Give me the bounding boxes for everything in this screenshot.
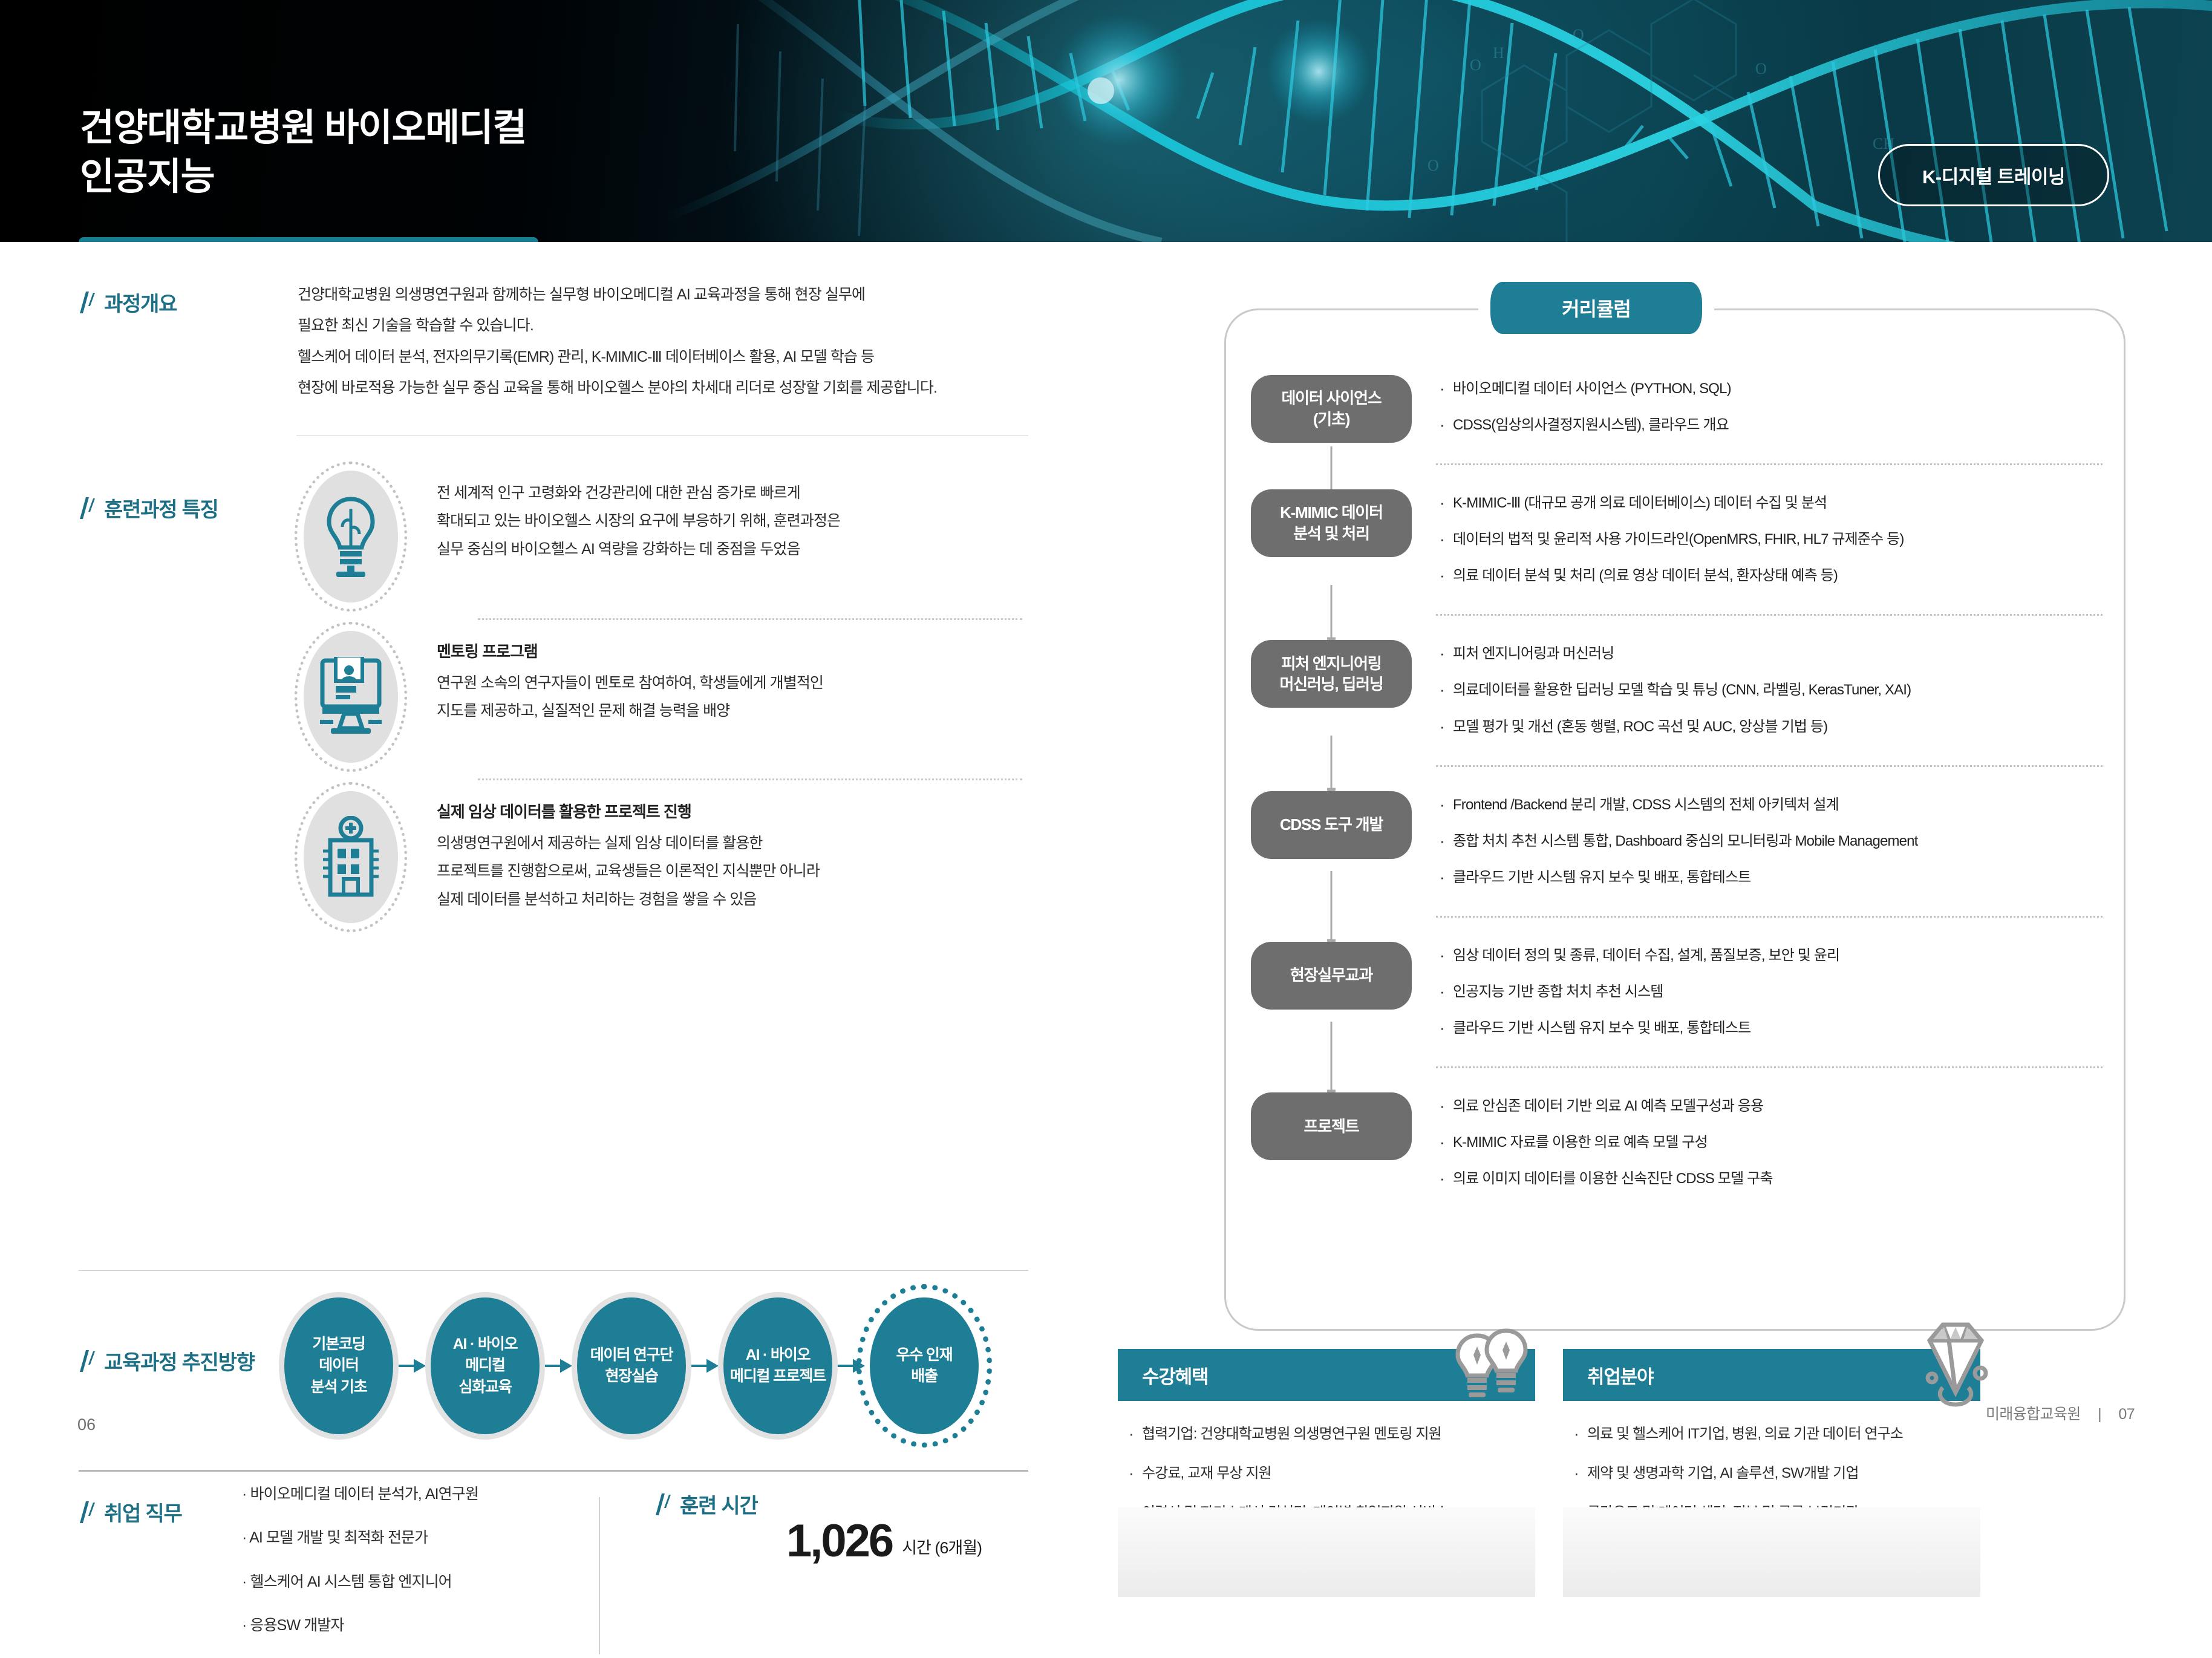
curriculum-items: 피처 엔지니어링과 머신러닝 의료데이터를 활용한 딥러닝 모델 학습 및 튜닝… xyxy=(1419,640,2107,752)
list-item: · 헬스케어 AI 시스템 통합 엔지니어 xyxy=(242,1571,478,1593)
page-header: OH OO CHO 건양대학교병원 바이오메디컬 인공지능 K-디지털 트레이닝 xyxy=(0,0,2212,242)
page-title-text: 건양대학교병원 바이오메디컬 인공지능 xyxy=(80,104,526,201)
svg-text:O: O xyxy=(1427,157,1439,174)
stage-line: 피처 엔지니어링 xyxy=(1281,653,1381,674)
curriculum-items: Frontend /Backend 분리 개발, CDSS 시스템의 전체 아키… xyxy=(1419,791,2107,904)
curriculum-panel: 커리큘럼 데이터 사이언스 (기초) 바이오메디컬 데이터 사이언 xyxy=(1224,308,2126,1331)
two-lightbulbs-icon xyxy=(1450,1317,1541,1413)
curriculum-stage-col: 프로젝트 xyxy=(1244,1092,1419,1160)
feature-icon-wrap xyxy=(290,471,411,602)
features-heading-label: 훈련과정 특징 xyxy=(104,493,218,523)
fields-heading-label: 취업분야 xyxy=(1587,1362,1653,1389)
feature-line: 프로젝트를 진행함으로써, 교육생들은 이론적인 지식뿐만 아니라 xyxy=(437,857,820,885)
curriculum-stage: 데이터 사이언스 (기초) xyxy=(1251,375,1412,443)
flow-node-line: 분석 기초 xyxy=(311,1377,367,1399)
list-item: · 응용SW 개발자 xyxy=(242,1614,478,1636)
overview-line: 필요한 최신 기술을 학습할 수 있습니다. xyxy=(298,310,1011,341)
fields-footer-strip xyxy=(1563,1507,1980,1597)
features-heading: 훈련과정 특징 xyxy=(77,493,218,523)
flow-node-line: 데이터 xyxy=(319,1355,358,1377)
feature-item: 전 세계적 인구 고령화와 건강관리에 대한 관심 증가로 빠르게 확대되고 있… xyxy=(290,460,1034,618)
flow-arrow-icon xyxy=(686,1358,723,1374)
flow-node: 기본코딩 데이터 분석 기초 xyxy=(284,1297,393,1434)
stage-line: (기초) xyxy=(1313,409,1349,430)
list-item: 협력기업: 건양대학교병원 의생명연구원 멘토링 지원 xyxy=(1129,1424,1535,1445)
left-page: 과정개요 건양대학교병원 의생명연구원과 함께하는 실무형 바이오메디컬 AI … xyxy=(0,242,1106,1466)
list-item: 임상 데이터 정의 및 종류, 데이터 수집, 설계, 품질보증, 보안 및 윤… xyxy=(1440,945,2107,966)
flow-node-line: 심화교육 xyxy=(458,1377,511,1399)
list-item: 종합 처치 추천 시스템 통합, Dashboard 중심의 모니터링과 Mob… xyxy=(1440,831,2107,852)
flow-node-line: 우수 인재 xyxy=(896,1345,953,1366)
page-body: 과정개요 건양대학교병원 의생명연구원과 함께하는 실무형 바이오메디컬 AI … xyxy=(0,242,2212,1466)
curriculum-stage-col: K-MIMIC 데이터 분석 및 처리 xyxy=(1244,489,1419,557)
curriculum-stage: K-MIMIC 데이터 분석 및 처리 xyxy=(1251,489,1412,557)
vertical-divider xyxy=(599,1497,600,1654)
divider xyxy=(296,436,1028,436)
curriculum-stage-col: 피처 엔지니어링 머신러닝, 딥러닝 xyxy=(1244,640,1419,708)
curriculum-badge: 커리큘럼 xyxy=(1490,282,1702,334)
stage-line: CDSS 도구 개발 xyxy=(1280,814,1383,835)
page-title: 건양대학교병원 바이오메디컬 인공지능 xyxy=(80,104,526,201)
flow-node-line: AI · 바이오 xyxy=(746,1345,811,1366)
diamond-icon xyxy=(1908,1315,1998,1417)
svg-text:O: O xyxy=(1573,26,1584,44)
list-item: 클라우드 기반 시스템 유지 보수 및 배포, 통합테스트 xyxy=(1440,867,2107,888)
curriculum-stage: 현장실무교과 xyxy=(1251,942,1412,1010)
list-item: 바이오메디컬 데이터 사이언스 (PYTHON, SQL) xyxy=(1440,379,2107,399)
flow-node: AI · 바이오 메디컬 심화교육 xyxy=(431,1297,540,1434)
feature-line: 실제 데이터를 분석하고 처리하는 경험을 쌓을 수 있음 xyxy=(437,886,820,913)
hours-number: 1,026 xyxy=(786,1518,892,1564)
flow-node: 데이터 연구단 현장실습 xyxy=(577,1297,686,1434)
curriculum-row: 현장실무교과 임상 데이터 정의 및 종류, 데이터 수집, 설계, 품질보증,… xyxy=(1244,918,2107,1066)
curriculum-items: K-MIMIC-Ⅲ (대규모 공개 의료 데이터베이스) 데이터 수집 및 분석… xyxy=(1419,489,2107,602)
stage-line: 데이터 사이언스 xyxy=(1281,388,1381,409)
curriculum-rows: 데이터 사이언스 (기초) 바이오메디컬 데이터 사이언스 (PYTHON, S… xyxy=(1244,375,2107,1217)
slash-icon xyxy=(77,1349,96,1373)
divider-thick xyxy=(79,1470,1028,1472)
benefits-list: 협력기업: 건양대학교병원 의생명연구원 멘토링 지원 수강료, 교재 무상 지… xyxy=(1118,1401,1535,1523)
overview-line: 헬스케어 데이터 분석, 전자의무기록(EMR) 관리, K-MIMIC-Ⅲ 데… xyxy=(298,342,1011,373)
flow-heading: 교육과정 추진방향 xyxy=(77,1346,255,1376)
slash-icon xyxy=(77,290,96,315)
list-item: 클라우드 기반 시스템 유지 보수 및 배포, 통합테스트 xyxy=(1440,1018,2107,1039)
curriculum-items: 임상 데이터 정의 및 종류, 데이터 수집, 설계, 품질보증, 보안 및 윤… xyxy=(1419,942,2107,1054)
flow-node-line: 메디컬 xyxy=(465,1355,504,1377)
curriculum-stage: 피처 엔지니어링 머신러닝, 딥러닝 xyxy=(1251,640,1412,708)
list-item: CDSS(임상의사결정지원시스템), 클라우드 개요 xyxy=(1440,415,2107,436)
feature-text: 멘토링 프로그램 연구원 소속의 연구자들이 멘토로 참여하여, 학생들에게 개… xyxy=(437,631,823,725)
stage-line: 머신러닝, 딥러닝 xyxy=(1279,674,1383,695)
feature-line: 지도를 제공하고, 실질적인 문제 해결 능력을 배양 xyxy=(437,697,823,725)
stage-line: 분석 및 처리 xyxy=(1293,523,1369,544)
list-item: 인공지능 기반 종합 처치 추천 시스템 xyxy=(1440,982,2107,1002)
curriculum-stage: CDSS 도구 개발 xyxy=(1251,791,1412,859)
flow-node-line: 데이터 연구단 xyxy=(590,1345,673,1366)
feature-item: 실제 임상 데이터를 활용한 프로젝트 진행 의생명연구원에서 제공하는 실제 … xyxy=(290,780,1034,939)
feature-text: 실제 임상 데이터를 활용한 프로젝트 진행 의생명연구원에서 제공하는 실제 … xyxy=(437,791,820,913)
flow-node-line: 메디컬 프로젝트 xyxy=(730,1366,826,1388)
feature-title: 멘토링 프로그램 xyxy=(437,639,823,662)
flow-node-final: 우수 인재 배출 xyxy=(870,1297,979,1434)
list-item: 의료데이터를 활용한 딥러닝 모델 학습 및 튜닝 (CNN, 라벨링, Ker… xyxy=(1440,680,2107,700)
feature-line: 전 세계적 인구 고령화와 건강관리에 대한 관심 증가로 빠르게 xyxy=(437,479,840,507)
list-item: 의료 및 헬스케어 IT기업, 병원, 의료 기관 데이터 연구소 xyxy=(1574,1424,1980,1445)
curriculum-items: 바이오메디컬 데이터 사이언스 (PYTHON, SQL) CDSS(임상의사결… xyxy=(1419,375,2107,451)
benefits-footer-strip xyxy=(1118,1507,1535,1597)
feature-icon-wrap xyxy=(290,791,411,923)
list-item: Frontend /Backend 분리 개발, CDSS 시스템의 전체 아키… xyxy=(1440,795,2107,815)
curriculum-row: 데이터 사이언스 (기초) 바이오메디컬 데이터 사이언스 (PYTHON, S… xyxy=(1244,375,2107,463)
curriculum-row: 프로젝트 의료 안심존 데이터 기반 의료 AI 예측 모델구성과 응용 K-M… xyxy=(1244,1068,2107,1217)
svg-text:O: O xyxy=(1470,56,1481,74)
list-item: · 바이오메디컬 데이터 분석가, AI연구원 xyxy=(242,1483,478,1505)
list-item: 의료 안심존 데이터 기반 의료 AI 예측 모델구성과 응용 xyxy=(1440,1096,2107,1117)
feature-item: 멘토링 프로그램 연구원 소속의 연구자들이 멘토로 참여하여, 학생들에게 개… xyxy=(290,620,1034,778)
list-item: 피처 엔지니어링과 머신러닝 xyxy=(1440,644,2107,664)
stage-line: K-MIMIC 데이터 xyxy=(1280,502,1383,523)
feature-title: 실제 임상 데이터를 활용한 프로젝트 진행 xyxy=(437,800,820,822)
flow-heading-label: 교육과정 추진방향 xyxy=(104,1346,255,1376)
footer-org: 미래융합교육원 xyxy=(1986,1406,2081,1423)
flow-node: AI · 바이오 메디컬 프로젝트 xyxy=(723,1297,832,1434)
flow-node-line: 기본코딩 xyxy=(312,1334,365,1356)
overview-heading-label: 과정개요 xyxy=(104,287,177,317)
list-item: 의료 데이터 분석 및 처리 (의료 영상 데이터 분석, 환자상태 예측 등) xyxy=(1440,566,2107,586)
curriculum-row: K-MIMIC 데이터 분석 및 처리 K-MIMIC-Ⅲ (대규모 공개 의료… xyxy=(1244,465,2107,614)
list-item: K-MIMIC-Ⅲ (대규모 공개 의료 데이터베이스) 데이터 수집 및 분석 xyxy=(1440,493,2107,514)
list-item: K-MIMIC 자료를 이용한 의료 예측 모델 구성 xyxy=(1440,1132,2107,1153)
page-number-right: 07 xyxy=(2118,1406,2135,1423)
kdt-badge: K-디지털 트레이닝 xyxy=(1878,144,2109,206)
benefits-heading-label: 수강혜택 xyxy=(1142,1362,1208,1389)
benefits-header: 수강혜택 xyxy=(1118,1349,1535,1401)
right-page: 커리큘럼 데이터 사이언스 (기초) 바이오메디컬 데이터 사이언 xyxy=(1106,242,2212,1466)
stage-line: 현장실무교과 xyxy=(1290,965,1372,986)
slash-icon xyxy=(77,1500,96,1524)
list-item: 제약 및 생명과학 기업, AI 솔루션, SW개발 기업 xyxy=(1574,1463,1980,1484)
jobs-heading: 취업 직무 xyxy=(77,1497,182,1527)
overview-text: 건양대학교병원 의생명연구원과 함께하는 실무형 바이오메디컬 AI 교육과정을… xyxy=(298,279,1011,403)
divider xyxy=(79,1270,1028,1271)
feature-line: 실무 중심의 바이오헬스 AI 역량을 강화하는 데 중점을 두었음 xyxy=(437,535,840,563)
hospital-icon xyxy=(304,791,398,923)
svg-text:H: H xyxy=(1493,44,1504,62)
features-list: 전 세계적 인구 고령화와 건강관리에 대한 관심 증가로 빠르게 확대되고 있… xyxy=(290,460,1034,939)
page-footer-right: 미래융합교육원 | 07 xyxy=(1986,1402,2135,1424)
feature-text: 전 세계적 인구 고령화와 건강관리에 대한 관심 증가로 빠르게 확대되고 있… xyxy=(437,471,840,563)
overview-line: 현장에 바로적용 가능한 실무 중심 교육을 통해 바이오헬스 분야의 차세대 … xyxy=(298,373,1011,403)
slash-icon xyxy=(653,1492,671,1516)
hours-heading: 훈련 시간 xyxy=(653,1489,758,1519)
flow-diagram: 기본코딩 데이터 분석 기초 AI · 바이오 메디컬 심화교육 데이터 연구단… xyxy=(284,1297,979,1434)
overview-heading: 과정개요 xyxy=(77,287,177,317)
slash-icon xyxy=(77,496,96,520)
flow-node-line: 현장실습 xyxy=(605,1366,657,1388)
jobs-heading-label: 취업 직무 xyxy=(104,1497,182,1527)
list-item: 데이터의 법적 및 윤리적 사용 가이드라인(OpenMRS, FHIR, HL… xyxy=(1440,529,2107,550)
fields-list: 의료 및 헬스케어 IT기업, 병원, 의료 기관 데이터 연구소 제약 및 생… xyxy=(1563,1401,1980,1523)
curriculum-row: CDSS 도구 개발 Frontend /Backend 분리 개발, CDSS… xyxy=(1244,767,2107,916)
monitor-mentoring-icon xyxy=(304,631,398,763)
curriculum-stage-col: CDSS 도구 개발 xyxy=(1244,791,1419,859)
title-accent-bar xyxy=(79,237,538,242)
hours-unit: 시간 (6개월) xyxy=(902,1535,982,1564)
list-item: 의료 이미지 데이터를 이용한 신속진단 CDSS 모델 구축 xyxy=(1440,1169,2107,1189)
curriculum-row: 피처 엔지니어링 머신러닝, 딥러닝 피처 엔지니어링과 머신러닝 의료데이터를… xyxy=(1244,616,2107,765)
feature-line: 연구원 소속의 연구자들이 멘토로 참여하여, 학생들에게 개별적인 xyxy=(437,669,823,697)
overview-line: 건양대학교병원 의생명연구원과 함께하는 실무형 바이오메디컬 AI 교육과정을… xyxy=(298,279,1011,310)
list-item: 수강료, 교재 무상 지원 xyxy=(1129,1463,1535,1484)
footer-separator: | xyxy=(2084,1406,2115,1423)
hours-heading-label: 훈련 시간 xyxy=(680,1489,758,1519)
benefits-box: 수강혜택 xyxy=(1118,1349,1535,1541)
fields-header: 취업분야 xyxy=(1563,1349,1980,1401)
curriculum-stage: 프로젝트 xyxy=(1251,1092,1412,1160)
flow-node-line: 배출 xyxy=(911,1366,938,1388)
flow-arrow-icon xyxy=(540,1358,577,1374)
list-item: 모델 평가 및 개선 (혼동 행렬, ROC 곡선 및 AUC, 앙상블 기법 … xyxy=(1440,717,2107,737)
fields-box: 취업분야 xyxy=(1563,1349,1980,1541)
stage-line: 프로젝트 xyxy=(1304,1116,1359,1137)
feature-line: 의생명연구원에서 제공하는 실제 임상 데이터를 활용한 xyxy=(437,829,820,857)
feature-line: 확대되고 있는 바이오헬스 시장의 요구에 부응하기 위해, 훈련과정은 xyxy=(437,507,840,535)
flow-arrow-icon xyxy=(393,1358,431,1374)
page-number-left: 06 xyxy=(77,1415,96,1434)
svg-text:O: O xyxy=(1755,60,1767,77)
list-item: · AI 모델 개발 및 최적화 전문가 xyxy=(242,1527,478,1549)
feature-icon-wrap xyxy=(290,631,411,763)
jobs-list: · 바이오메디컬 데이터 분석가, AI연구원 · AI 모델 개발 및 최적화… xyxy=(242,1483,478,1658)
curriculum-items: 의료 안심존 데이터 기반 의료 AI 예측 모델구성과 응용 K-MIMIC … xyxy=(1419,1092,2107,1205)
curriculum-stage-col: 데이터 사이언스 (기초) xyxy=(1244,375,1419,443)
flow-node-line: AI · 바이오 xyxy=(453,1334,518,1356)
curriculum-stage-col: 현장실무교과 xyxy=(1244,942,1419,1010)
hours-value-block: 1,026 시간 (6개월) xyxy=(786,1518,982,1564)
lightbulb-icon xyxy=(304,471,398,602)
